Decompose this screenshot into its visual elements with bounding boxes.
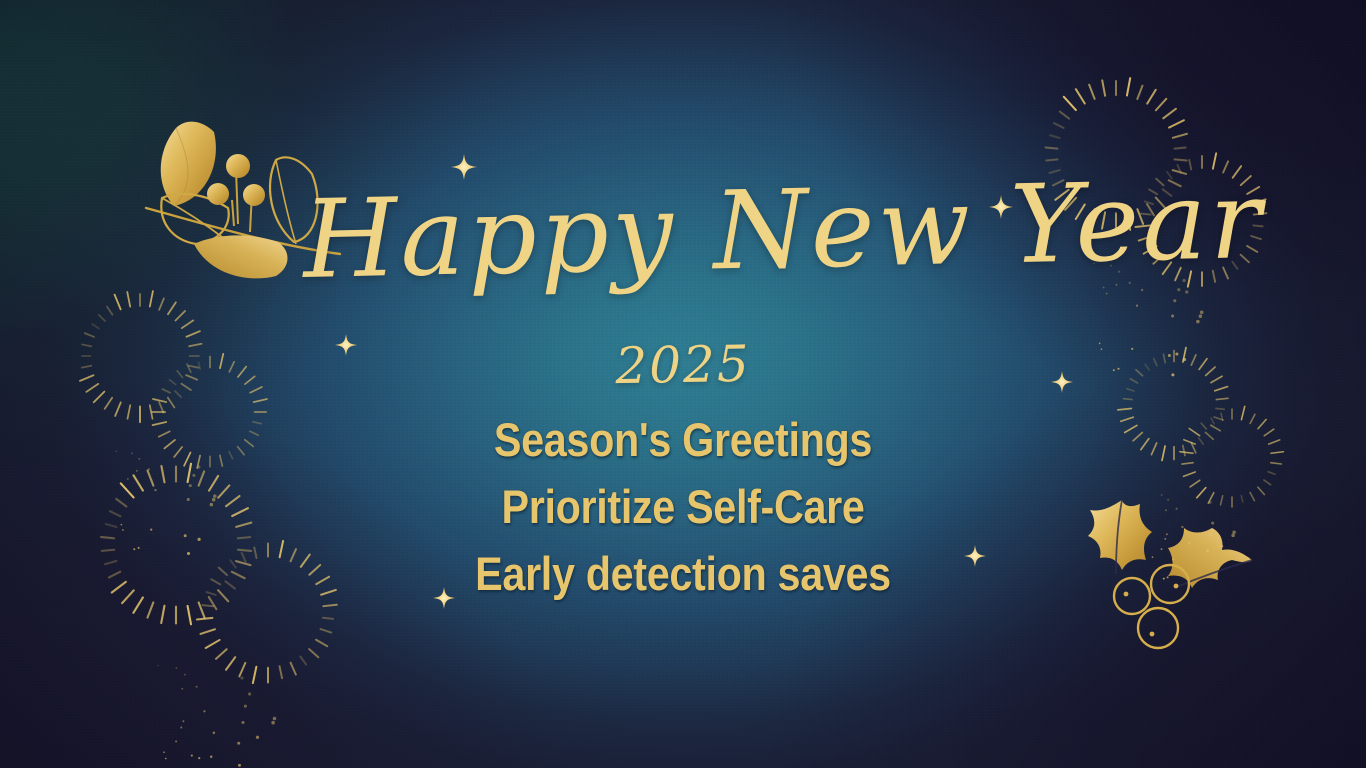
firework-burst-top-right-icon [1034,62,1294,322]
gold-leaf-sprig-icon [128,104,358,294]
sparkle-star-2-icon [989,195,1013,219]
background-glow-navy-bottom-right [0,0,1366,768]
message-line-greeting: Season's Greetings [82,406,1284,473]
background-vignette [0,0,1366,768]
background-glow-navy-bottom-left [0,0,1366,768]
message-line-detection: Early detection saves [82,540,1284,607]
sparkle-star-3-icon [335,334,357,356]
greeting-card-canvas: Happy New Year 2025 Season's Greetings P… [0,0,1366,768]
firework-burst-left-lower-icon [92,452,352,712]
firework-burst-right-middle-icon [1112,342,1302,532]
message-line-selfcare: Prioritize Self-Care [82,473,1284,540]
sparkle-star-6-icon [433,587,455,609]
message-list: Season's Greetings Prioritize Self-Care … [0,406,1366,607]
sparkle-star-5-icon [964,545,986,567]
sparkle-star-layer [0,0,1366,768]
script-headline: Happy New Year [302,168,1064,297]
year-label: 2025 [615,335,751,395]
background-glow-green [0,0,1366,768]
background-glow-navy-top-right [0,0,1366,768]
sparkle-star-1-icon [451,154,477,180]
background-gradient-base [0,0,1366,768]
firework-burst-left-upper-icon [70,282,290,502]
greeting-text-block: Happy New Year 2025 Season's Greetings P… [0,0,1366,768]
sparkle-star-4-icon [1051,371,1073,393]
gold-holly-sprig-icon [1066,486,1276,666]
background-noise-texture [0,0,1366,768]
